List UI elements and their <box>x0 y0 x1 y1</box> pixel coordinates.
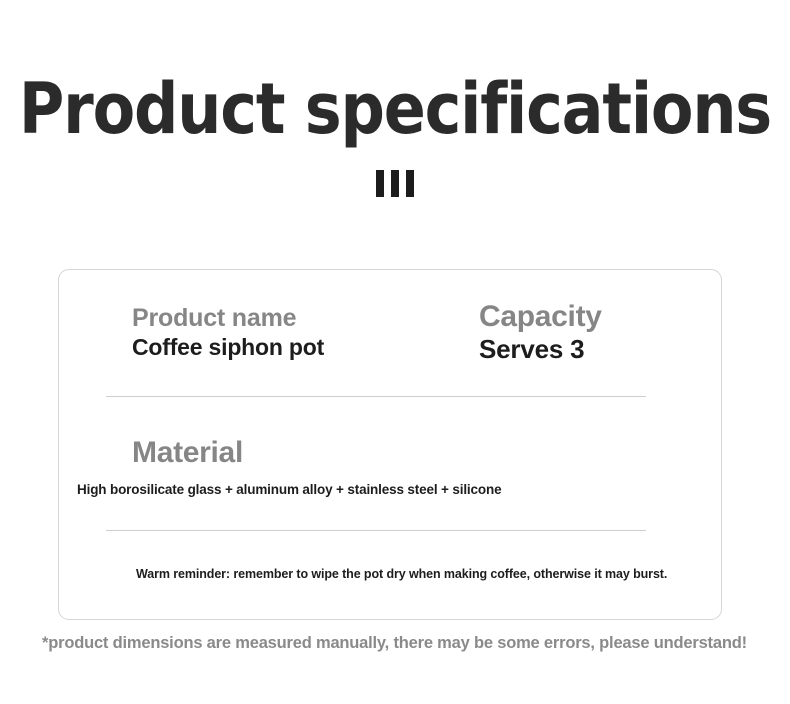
header: Product specifications <box>0 74 790 197</box>
field-label-product-name: Product name <box>132 304 324 332</box>
product-specifications-page: Product specifications Product name Coff… <box>0 0 790 704</box>
field-value-capacity: Serves 3 <box>479 335 602 365</box>
field-value-material: High borosilicate glass + aluminum alloy… <box>77 482 501 497</box>
divider-top <box>106 396 646 397</box>
field-capacity: Capacity Serves 3 <box>479 300 602 364</box>
field-value-product-name: Coffee siphon pot <box>132 334 324 360</box>
warm-reminder-text: Warm reminder: remember to wipe the pot … <box>136 567 667 581</box>
field-product-name: Product name Coffee siphon pot <box>132 304 324 360</box>
page-title: Product specifications <box>6 74 784 144</box>
field-label-capacity: Capacity <box>479 300 602 334</box>
spec-row-primary: Product name Coffee siphon pot Capacity … <box>59 304 721 394</box>
footnote-disclaimer: *product dimensions are measured manuall… <box>42 634 747 653</box>
field-material: Material <box>132 436 243 470</box>
specification-card: Product name Coffee siphon pot Capacity … <box>58 269 722 620</box>
bar-segment <box>391 170 399 197</box>
three-bars-icon <box>0 170 790 197</box>
bar-segment <box>406 170 414 197</box>
field-label-material: Material <box>132 436 243 470</box>
bar-segment <box>376 170 384 197</box>
divider-bottom <box>106 530 646 531</box>
